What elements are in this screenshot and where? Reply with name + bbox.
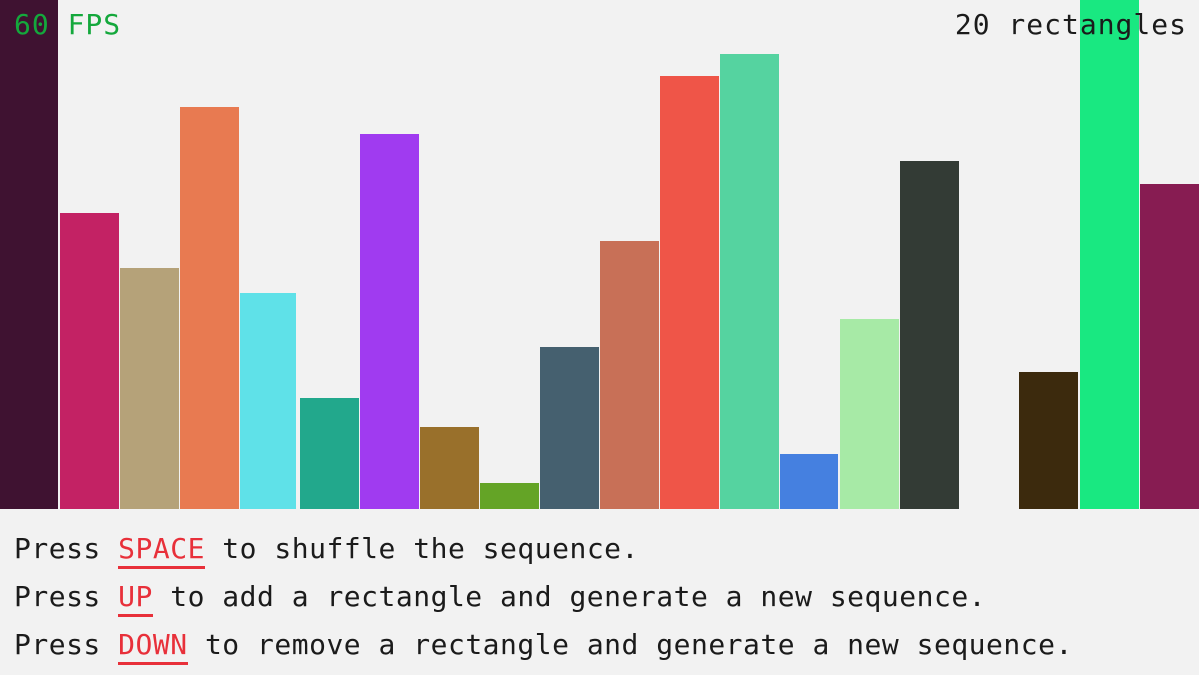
chart-bar xyxy=(60,213,119,509)
chart-bar xyxy=(480,483,539,509)
chart-bar xyxy=(360,134,419,509)
chart-bar xyxy=(300,398,359,509)
chart-bar xyxy=(0,0,58,509)
instruction-key[interactable]: SPACE xyxy=(118,532,205,569)
chart-bar xyxy=(120,268,179,509)
chart-bar xyxy=(660,76,719,509)
chart-bar xyxy=(900,161,959,509)
instruction-line: Press UP to add a rectangle and generate… xyxy=(0,573,1199,621)
app-canvas: 60 FPS 20 rectangles Press SPACE to shuf… xyxy=(0,0,1199,675)
instruction-prefix: Press xyxy=(14,580,118,613)
instruction-prefix: Press xyxy=(14,628,118,661)
instruction-suffix: to shuffle the sequence. xyxy=(205,532,639,565)
bar-chart xyxy=(0,0,1199,509)
chart-bar xyxy=(540,347,599,509)
fps-counter: 60 FPS xyxy=(14,8,121,42)
instruction-suffix: to add a rectangle and generate a new se… xyxy=(153,580,986,613)
chart-bar xyxy=(780,454,838,509)
chart-bar xyxy=(840,319,899,509)
chart-bar xyxy=(240,293,296,509)
rectangle-count-label: 20 rectangles xyxy=(955,8,1187,42)
chart-bar xyxy=(1019,372,1078,509)
instructions-panel: Press SPACE to shuffle the sequence.Pres… xyxy=(0,509,1199,675)
instruction-suffix: to remove a rectangle and generate a new… xyxy=(188,628,1073,661)
chart-bar xyxy=(180,107,239,509)
instruction-key[interactable]: UP xyxy=(118,580,153,617)
chart-bar xyxy=(1080,0,1139,509)
instruction-line: Press SPACE to shuffle the sequence. xyxy=(0,525,1199,573)
chart-bar xyxy=(420,427,479,509)
instruction-line: Press DOWN to remove a rectangle and gen… xyxy=(0,621,1199,669)
chart-bar xyxy=(1140,184,1199,509)
chart-bar xyxy=(600,241,659,509)
instruction-prefix: Press xyxy=(14,532,118,565)
chart-bar xyxy=(720,54,779,509)
instruction-key[interactable]: DOWN xyxy=(118,628,187,665)
